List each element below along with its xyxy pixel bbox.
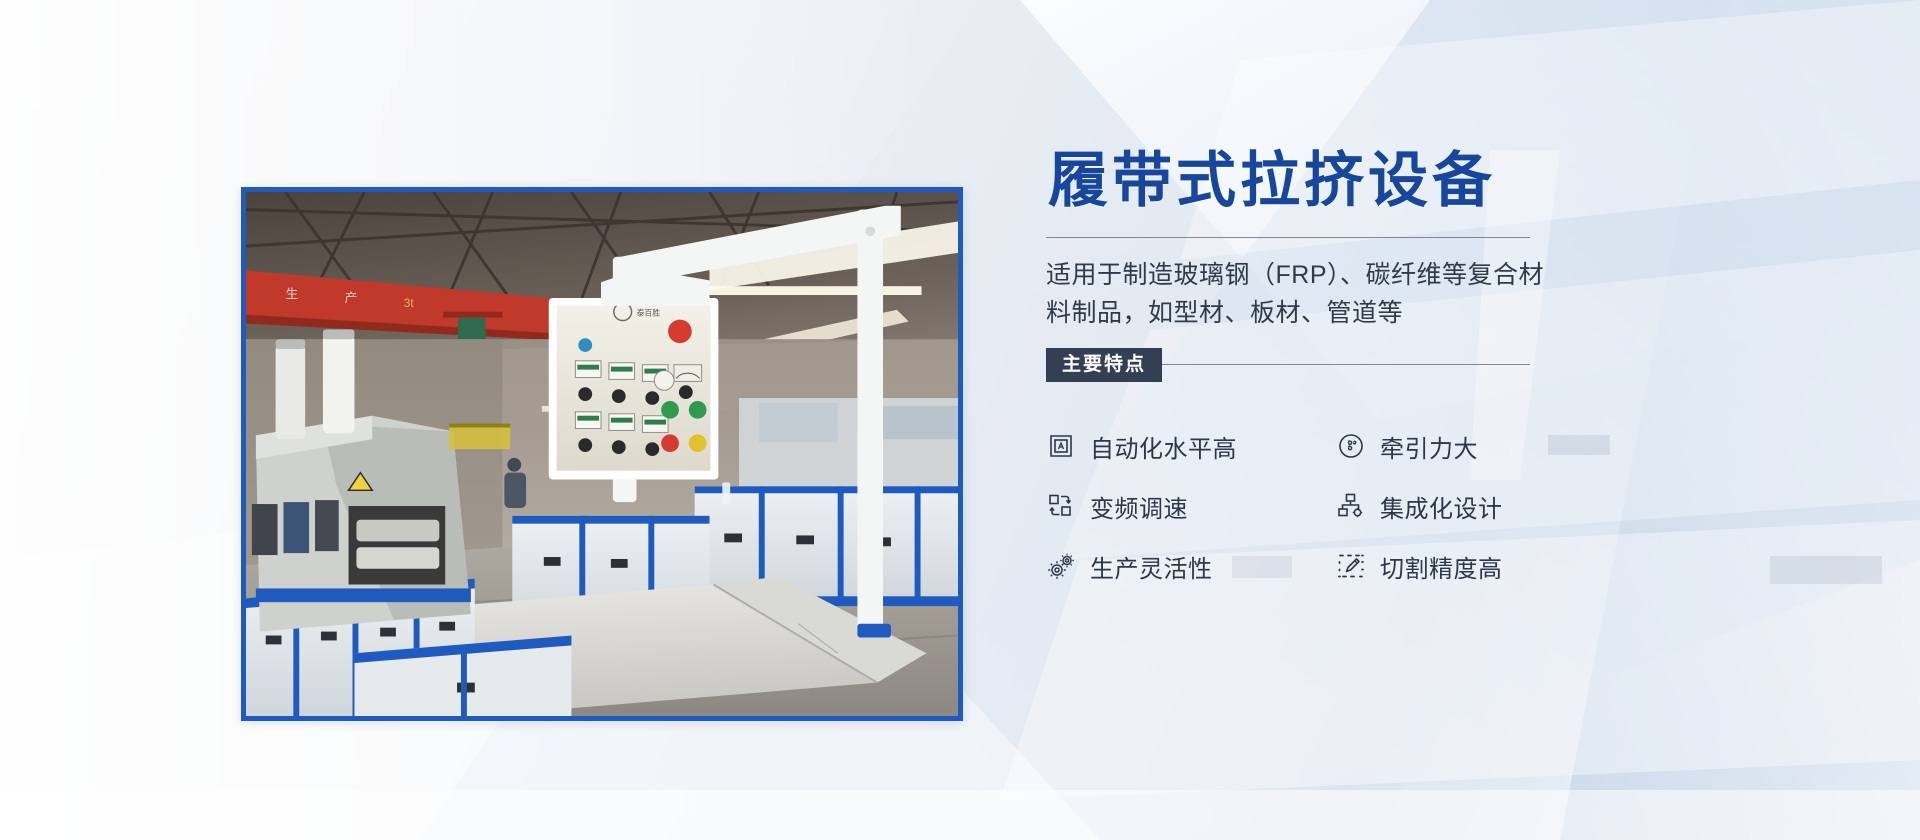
frequency-convert-icon: [1046, 491, 1076, 521]
svg-text:泰百胜: 泰百胜: [637, 308, 661, 318]
feature-item-integration[interactable]: 集成化设计: [1336, 476, 1626, 536]
precision-cut-icon: [1336, 551, 1366, 581]
feature-item-flexibility[interactable]: 生产灵活性: [1046, 536, 1336, 596]
integrated-design-icon: [1336, 491, 1366, 521]
feature-item-traction[interactable]: 牵引力大: [1336, 416, 1626, 476]
feature-item-cut-precision[interactable]: 切割精度高: [1336, 536, 1626, 596]
pultrusion-machine-photo: 生 产 3t: [246, 192, 958, 716]
page-title: 履带式拉挤设备: [1048, 150, 1676, 211]
title-divider: [1046, 237, 1530, 238]
feature-label: 变频调速: [1090, 489, 1188, 524]
product-photo-frame[interactable]: 生 产 3t: [241, 187, 963, 721]
feature-list: 自动化水平高 牵引力大: [1046, 416, 1676, 596]
feature-label: 集成化设计: [1380, 489, 1503, 524]
traction-circle-icon: [1336, 431, 1366, 461]
letter-a-box-icon: [1046, 431, 1076, 461]
svg-text:生: 生: [285, 286, 298, 301]
features-heading-row: 主要特点: [1046, 348, 1530, 382]
feature-label: 切割精度高: [1380, 549, 1503, 584]
svg-text:产: 产: [345, 290, 358, 305]
status-badge: 主要特点: [1046, 348, 1162, 382]
feature-item-automation[interactable]: 自动化水平高: [1046, 416, 1336, 476]
svg-text:3t: 3t: [404, 296, 415, 310]
feature-label: 牵引力大: [1380, 429, 1478, 464]
product-banner: 生 产 3t: [0, 0, 1920, 840]
product-description: 适用于制造玻璃钢（FRP）、碳纤维等复合材料制品，如型材、板材、管道等: [1046, 256, 1546, 332]
feature-label: 自动化水平高: [1090, 429, 1237, 464]
banner-content: 履带式拉挤设备 适用于制造玻璃钢（FRP）、碳纤维等复合材料制品，如型材、板材、…: [1046, 150, 1676, 596]
feature-label: 生产灵活性: [1090, 549, 1213, 584]
feature-item-frequency[interactable]: 变频调速: [1046, 476, 1336, 536]
gears-icon: [1046, 551, 1076, 581]
